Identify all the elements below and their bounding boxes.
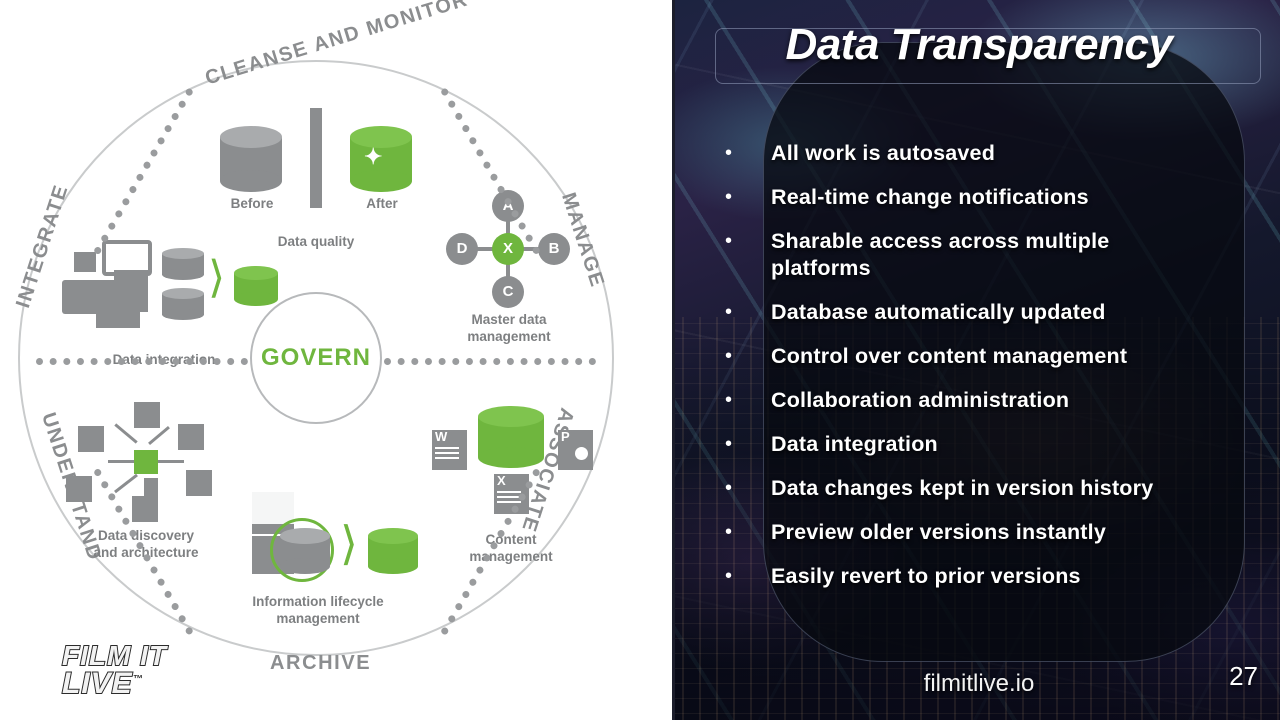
- list-item: • Control over content management: [721, 343, 1266, 370]
- list-item: • Collaboration administration: [721, 387, 1266, 414]
- powerpoint-document-icon: P: [558, 430, 593, 470]
- ring-label-archive: ARCHIVE: [270, 652, 371, 675]
- database-icon-integrated: [234, 266, 278, 306]
- bullet-list: • All work is autosaved • Real-time chan…: [721, 140, 1266, 607]
- caption-content-management-line1: Content: [416, 532, 606, 549]
- bullet-glyph: •: [721, 228, 771, 254]
- page-number: 27: [1229, 661, 1258, 692]
- list-item: • Sharable access across multiple platfo…: [721, 228, 1266, 282]
- list-item-label: Database automatically updated: [771, 299, 1106, 326]
- database-icon-archive-source: [280, 528, 330, 574]
- caption-master-data-management-line2: management: [416, 329, 602, 346]
- ring-label-cleanse-and-monitor: CLEANSE AND MONITOR: [200, 21, 475, 58]
- logo-line1: FILM IT: [62, 643, 242, 670]
- envelope-icon: [96, 300, 140, 328]
- caption-information-lifecycle-line2: management: [198, 611, 438, 628]
- list-item: • All work is autosaved: [721, 140, 1266, 167]
- printer-icon: [74, 252, 96, 272]
- govern-center-circle: GOVERN: [250, 292, 382, 424]
- segment-master-data-management: A D B C X Master data management: [416, 190, 602, 346]
- database-icon-source-bottom: [162, 288, 204, 320]
- list-item-label: Data integration: [771, 431, 938, 458]
- segment-data-quality: ✦ Before After Data quality: [198, 108, 434, 251]
- list-item-label: Collaboration administration: [771, 387, 1069, 414]
- chevron-right-icon: ⟩: [208, 256, 225, 300]
- mdm-node-d: D: [446, 233, 478, 265]
- list-item: • Real-time change notifications: [721, 184, 1266, 211]
- network-graph-center-node: [134, 450, 158, 474]
- sparkle-icon: ✦: [364, 146, 382, 168]
- data-transparency-slide: Data Transparency • All work is autosave…: [672, 0, 1280, 720]
- list-item: • Database automatically updated: [721, 299, 1266, 326]
- mdm-node-b: B: [538, 233, 570, 265]
- mdm-node-c: C: [492, 276, 524, 308]
- before-label: Before: [214, 196, 290, 213]
- bullet-glyph: •: [721, 343, 771, 369]
- bullet-glyph: •: [721, 519, 771, 545]
- list-item-label: Real-time change notifications: [771, 184, 1089, 211]
- network-graph-icon: [46, 400, 246, 522]
- bullet-glyph: •: [721, 299, 771, 325]
- caption-content-management-line2: management: [416, 549, 606, 566]
- bullet-glyph: •: [721, 431, 771, 457]
- list-item-label: Data changes kept in version history: [771, 475, 1153, 502]
- after-label: After: [344, 196, 420, 213]
- mdm-wheel-diagram-panel: CLEANSE AND MONITOR MANAGE ASSOCIATE ARC…: [0, 0, 672, 720]
- slide-title: Data Transparency: [675, 20, 1280, 70]
- logo-trademark: ™: [133, 674, 144, 685]
- list-item-label: Preview older versions instantly: [771, 519, 1106, 546]
- logo-line2: LIVE™: [62, 670, 242, 699]
- mdm-wheel: CLEANSE AND MONITOR MANAGE ASSOCIATE ARC…: [18, 60, 618, 660]
- word-document-icon: W: [432, 430, 467, 470]
- bullet-glyph: •: [721, 563, 771, 589]
- database-icon-content: [478, 406, 544, 468]
- database-icon-source-top: [162, 248, 204, 280]
- caption-master-data-management-line1: Master data: [416, 312, 602, 329]
- caption-data-discovery-line1: Data discovery: [46, 528, 246, 545]
- database-icon-before: [220, 126, 282, 192]
- database-icon-after: ✦: [350, 126, 412, 192]
- segment-content-management: W P X: [416, 404, 606, 566]
- segment-data-discovery-and-architecture: Data discovery and architecture: [46, 400, 246, 562]
- list-item-label: All work is autosaved: [771, 140, 995, 167]
- list-item: • Easily revert to prior versions: [721, 563, 1266, 590]
- segment-data-integration: ⟩ Data integration: [56, 236, 272, 369]
- list-item: • Data integration: [721, 431, 1266, 458]
- bullet-glyph: •: [721, 184, 771, 210]
- mdm-node-center-x: X: [492, 233, 524, 265]
- film-it-live-logo: FILM IT LIVE™: [62, 643, 242, 707]
- chevron-right-icon: ⟩: [340, 520, 358, 566]
- govern-label: GOVERN: [261, 344, 371, 372]
- bullet-glyph: •: [721, 475, 771, 501]
- list-item-label: Easily revert to prior versions: [771, 563, 1081, 590]
- bullet-glyph: •: [721, 387, 771, 413]
- website-footer: filmitlive.io: [675, 670, 1280, 698]
- separator-horizontal-right: [384, 358, 596, 365]
- bullet-glyph: •: [721, 140, 771, 166]
- separator-horizontal-left: [36, 358, 248, 365]
- database-icon-archive-target: [368, 528, 418, 574]
- list-item-label: Sharable access across multiple platform…: [771, 228, 1183, 282]
- divider-bar: [310, 108, 322, 208]
- list-item: • Data changes kept in version history: [721, 475, 1266, 502]
- slide: CLEANSE AND MONITOR MANAGE ASSOCIATE ARC…: [0, 0, 1280, 720]
- caption-information-lifecycle-line1: Information lifecycle: [198, 594, 438, 611]
- list-item-label: Control over content management: [771, 343, 1127, 370]
- list-item: • Preview older versions instantly: [721, 519, 1266, 546]
